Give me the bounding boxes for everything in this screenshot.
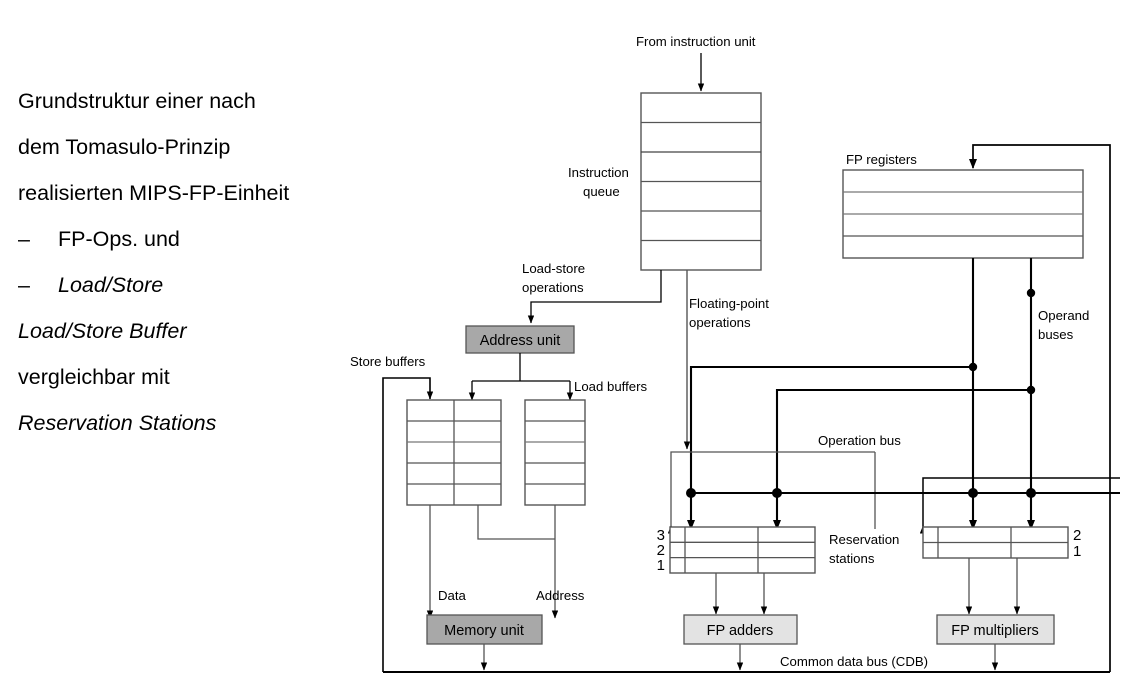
junction-dot-dist-4 [1026, 488, 1036, 498]
slide-root: Grundstruktur einer nach dem Tomasulo-Pr… [0, 0, 1129, 682]
multiplier-reservation-stations-box [923, 527, 1068, 558]
label-operand-buses-line2: buses [1038, 327, 1074, 342]
junction-dot-dist-2 [772, 488, 782, 498]
label-operand-buses-line1: Operand [1038, 308, 1089, 323]
path-store-buffer-address-join [478, 505, 555, 539]
label-fp-adders: FP adders [707, 623, 774, 639]
label-reservation-stations-line2: stations [829, 551, 875, 566]
junction-dot-operand-b [1027, 386, 1035, 394]
address-unit-fanout [472, 353, 570, 400]
label-address-unit: Address unit [480, 333, 561, 349]
store-buffers-box [407, 400, 501, 505]
path-load-store-operations [531, 270, 661, 323]
label-instruction-queue-line2: queue [583, 184, 620, 199]
multiplier-rs-row-number-1: 1 [1073, 543, 1081, 560]
multiplier-rs-row-number-2: 2 [1073, 527, 1081, 544]
label-floating-point-operations-line1: Floating-point [689, 296, 769, 311]
label-instruction-queue-line1: Instruction [568, 165, 629, 180]
label-store-buffers: Store buffers [350, 354, 426, 369]
label-operation-bus: Operation bus [818, 433, 901, 448]
adder-reservation-stations-box [670, 527, 815, 573]
instruction-queue-box [641, 93, 761, 270]
label-from-instruction-unit: From instruction unit [636, 34, 756, 49]
junction-dot-dist-1 [686, 488, 696, 498]
path-operation-bus-multiplier-branch [923, 478, 1120, 529]
adder-rs-row-number-1: 1 [657, 557, 665, 574]
label-address: Address [536, 588, 585, 603]
label-load-store-operations-line2: operations [522, 280, 584, 295]
load-buffers-box [525, 400, 585, 505]
label-reservation-stations-line1: Reservation [829, 532, 899, 547]
fp-registers-box [843, 170, 1083, 258]
fp-adders-box: FP adders [684, 615, 797, 644]
label-data: Data [438, 588, 467, 603]
label-load-store-operations-line1: Load-store [522, 261, 585, 276]
operand-bus-branch-to-adder-rs-b [777, 390, 1031, 529]
operand-bus-branch-to-adder-rs-a [691, 367, 973, 529]
fp-multipliers-box: FP multipliers [937, 615, 1054, 644]
junction-dot-dist-3 [968, 488, 978, 498]
address-unit-box: Address unit [466, 326, 574, 353]
memory-unit-box: Memory unit [427, 615, 542, 644]
label-fp-registers: FP registers [846, 152, 917, 167]
label-floating-point-operations-line2: operations [689, 315, 751, 330]
label-fp-multipliers: FP multipliers [951, 623, 1039, 639]
label-memory-unit: Memory unit [444, 623, 524, 639]
junction-dot-operand-feedback [1027, 289, 1035, 297]
junction-dot-operand-a [969, 363, 977, 371]
label-load-buffers: Load buffers [574, 379, 647, 394]
label-common-data-bus: Common data bus (CDB) [780, 654, 928, 669]
tomasulo-architecture-diagram: From instruction unit Instruction queue … [0, 0, 1129, 682]
